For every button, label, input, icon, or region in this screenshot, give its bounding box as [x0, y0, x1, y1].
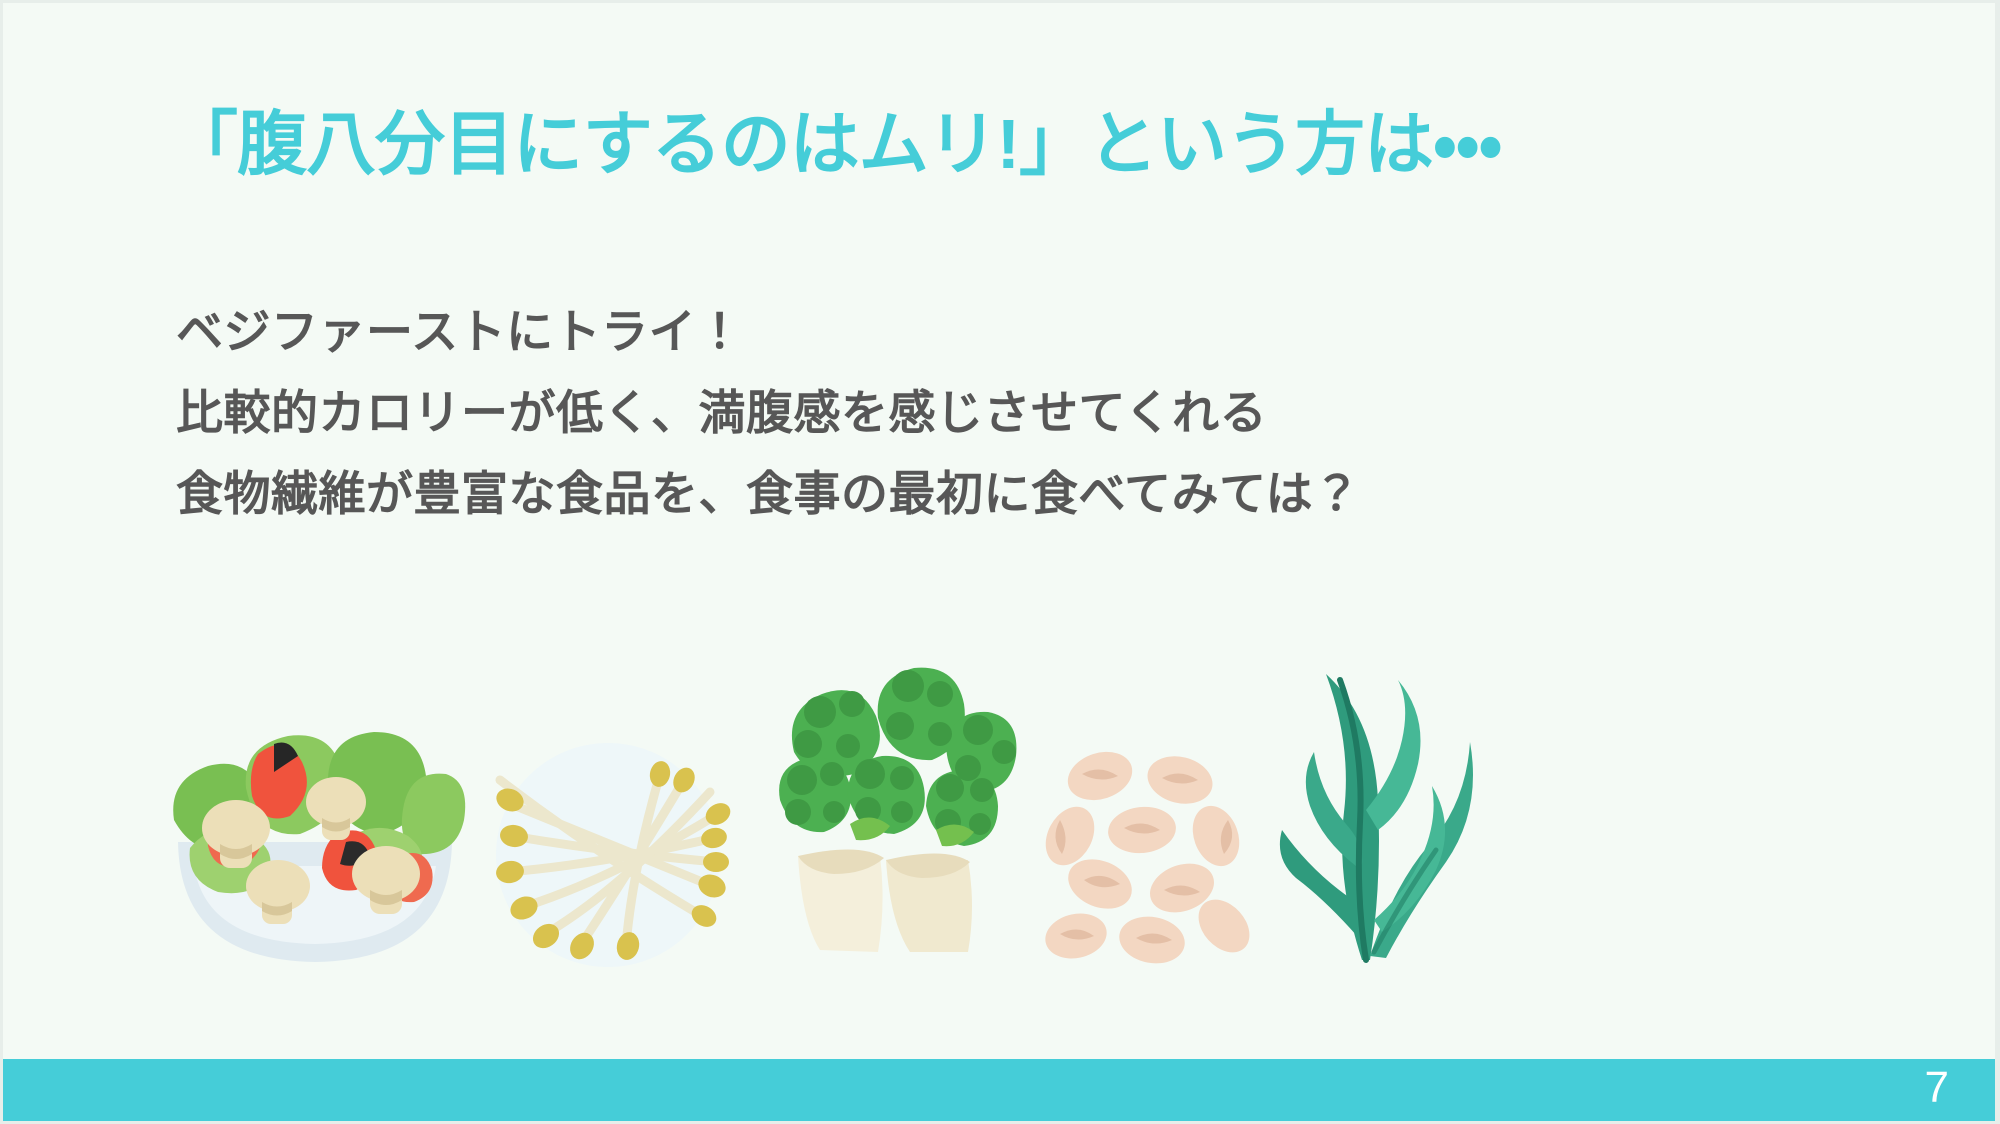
slide-title: 「腹八分目にするのはムリ!」という方は・・・ [168, 108, 1501, 182]
broccoli-illustration [750, 660, 1030, 970]
body-line-1: ベジファーストにトライ！ [176, 292, 1361, 373]
footer-bar: 7 [3, 1059, 1995, 1121]
body-line-3: 食物繊維が豊富な食品を、食事の最初に食べてみては？ [176, 454, 1361, 535]
seaweed-illustration [1270, 660, 1490, 970]
salad-bowl-illustration [150, 670, 480, 970]
slide: 「腹八分目にするのはムリ!」という方は・・・ ベジファーストにトライ！ 比較的カ… [0, 0, 2000, 1124]
body-copy: ベジファーストにトライ！ 比較的カロリーが低く、満腹感を感じさせてくれる 食物繊… [176, 292, 1361, 534]
beans-illustration [1040, 740, 1260, 970]
illustration-row [150, 650, 1710, 970]
page-number: 7 [1925, 1059, 1949, 1117]
body-line-2: 比較的カロリーが低く、満腹感を感じさせてくれる [176, 373, 1361, 454]
bean-sprouts-illustration [490, 740, 740, 970]
